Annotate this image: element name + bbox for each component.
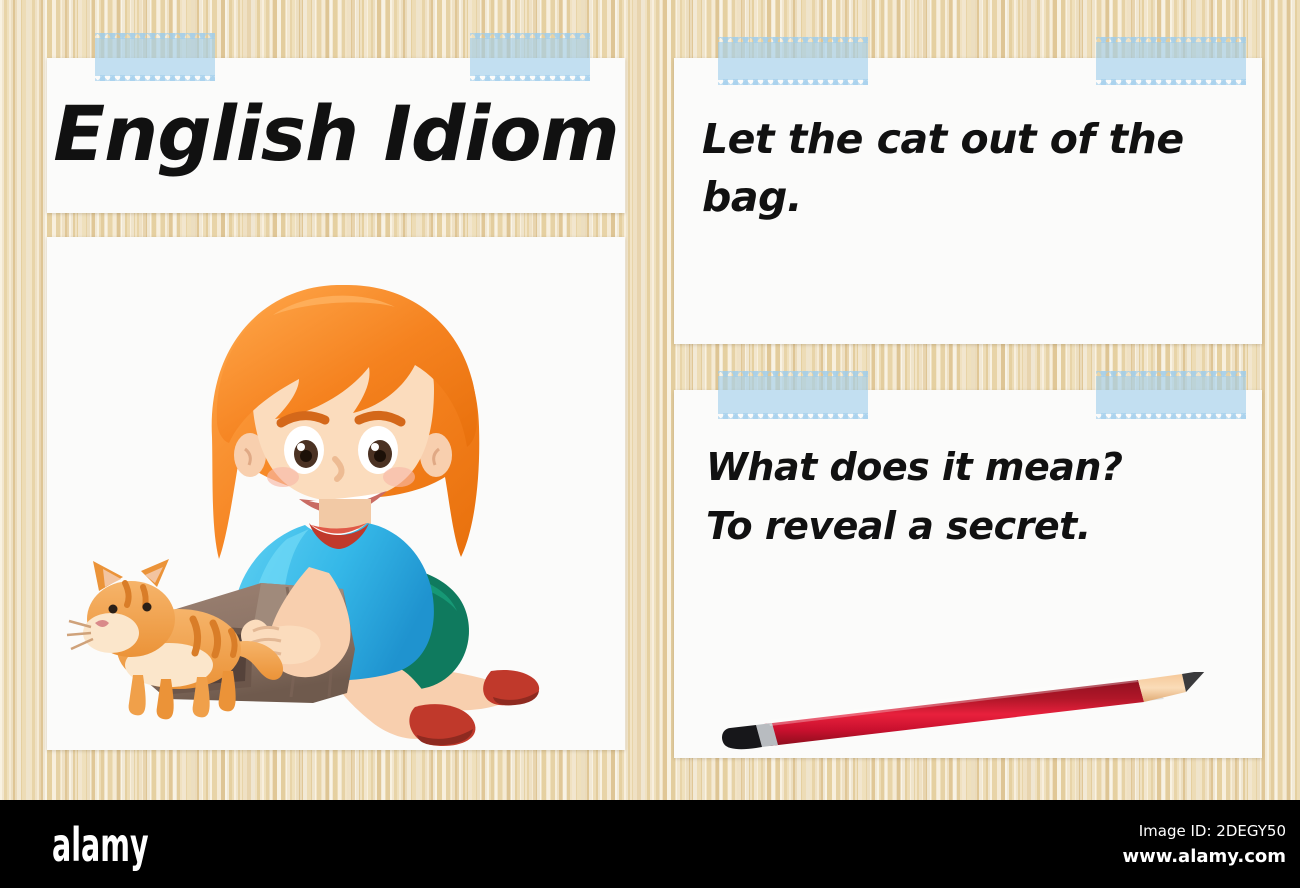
meaning-question: What does it mean?	[706, 438, 1226, 497]
pupil-left	[300, 450, 312, 462]
tape-strip	[718, 42, 868, 80]
pencil-tip	[1182, 672, 1206, 692]
alamy-logo: alamy	[52, 818, 149, 872]
idiom-card: Let the cat out of the bag.	[674, 58, 1262, 344]
pupil-right	[374, 450, 386, 462]
cat-muzzle	[83, 613, 139, 653]
cat-stripe	[231, 631, 235, 655]
cheek-right	[383, 467, 415, 487]
meaning-block: What does it mean? To reveal a secret.	[706, 438, 1226, 556]
screenshot-root: alamy a alamy a alamy a alamy a alamy a …	[0, 0, 1300, 888]
cat-head-stripe	[125, 583, 129, 605]
cat-eye-left	[109, 605, 118, 614]
tape-strip	[1096, 42, 1246, 80]
tape-strip	[1096, 376, 1246, 414]
illustration-card	[47, 237, 625, 750]
cat-leg	[129, 675, 146, 715]
alamy-footer: alamy Image ID: 2DEGY50 www.alamy.com	[0, 800, 1300, 888]
page-title: English Idiom	[47, 96, 625, 172]
cat-eye-right	[143, 603, 152, 612]
pencil-icon	[720, 672, 1220, 752]
tape-strip	[718, 376, 868, 414]
title-card: English Idiom	[47, 58, 625, 213]
meaning-card: What does it mean? To reveal a secret.	[674, 390, 1262, 758]
footer-credits: Image ID: 2DEGY50 www.alamy.com	[1122, 820, 1286, 870]
idiom-illustration	[47, 237, 625, 750]
pencil-eraser	[722, 725, 762, 749]
tape-strip	[470, 38, 590, 76]
eye-glint-left	[297, 443, 305, 451]
eye-glint-right	[371, 443, 379, 451]
site-url-label: www.alamy.com	[1122, 843, 1286, 870]
pencil-barrel	[764, 680, 1144, 746]
meaning-answer: To reveal a secret.	[706, 497, 1226, 556]
cheek-left	[267, 467, 299, 487]
idiom-phrase: Let the cat out of the bag.	[702, 110, 1202, 226]
tape-strip	[95, 38, 215, 76]
image-id-label: Image ID: 2DEGY50	[1122, 820, 1286, 843]
